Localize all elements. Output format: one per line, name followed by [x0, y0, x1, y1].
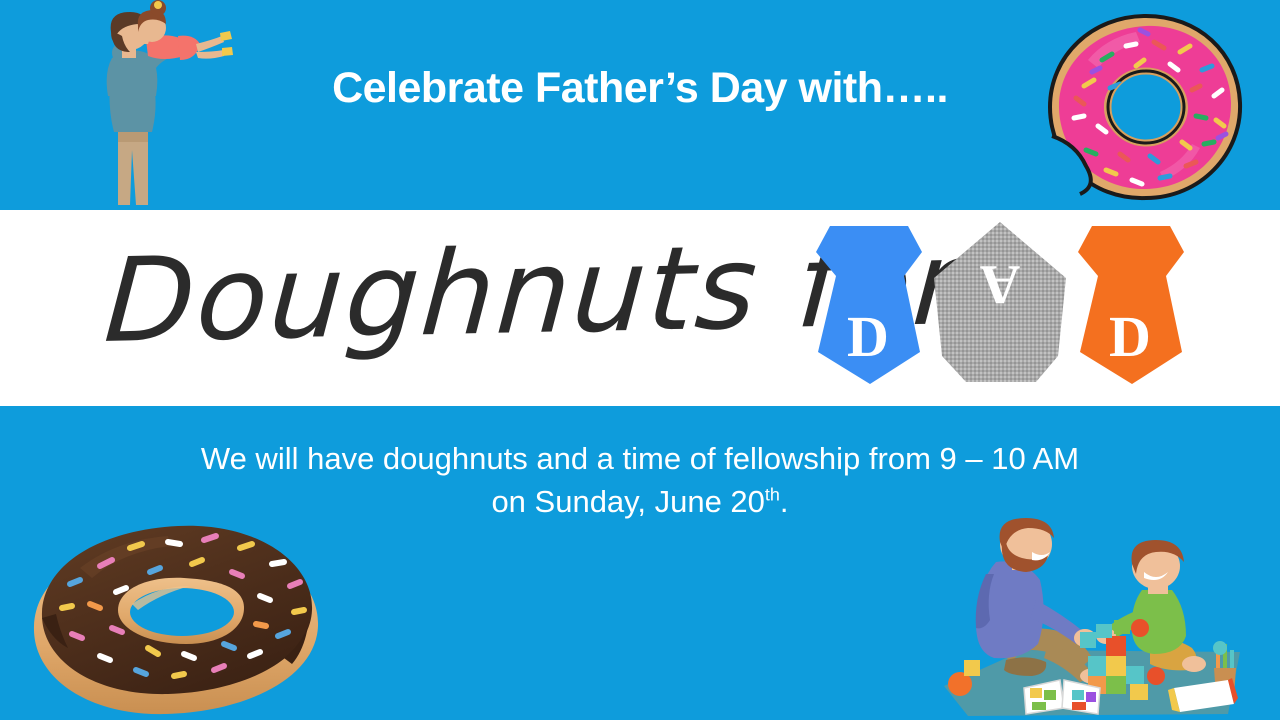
body-line-1: We will have doughnuts and a time of fel…: [201, 441, 1079, 476]
body-line-2-after: .: [780, 484, 789, 519]
dad-and-son-playing-blocks: [928, 518, 1254, 720]
svg-text:D: D: [847, 304, 889, 369]
svg-text:A: A: [979, 253, 1020, 315]
chocolate-sprinkle-donut: [28, 508, 324, 720]
slide-canvas: Celebrate Father’s Day with…..: [0, 0, 1280, 720]
svg-text:D: D: [1109, 304, 1151, 369]
orange-tie-shape: D: [1078, 226, 1184, 384]
gray-tie-knot-shape: A: [934, 222, 1066, 382]
body-line-2-before: on Sunday, June 20: [491, 484, 764, 519]
body-line-2-superscript: th: [765, 485, 780, 505]
script-title-doughnuts-for: Doughnuts for: [101, 218, 801, 372]
pink-sprinkle-donut: [1040, 8, 1252, 206]
dad-tie-logo: D A D: [800, 216, 1200, 392]
blue-tie-shape: D: [816, 226, 922, 384]
dad-lifting-daughter-illustration: [62, 0, 242, 212]
